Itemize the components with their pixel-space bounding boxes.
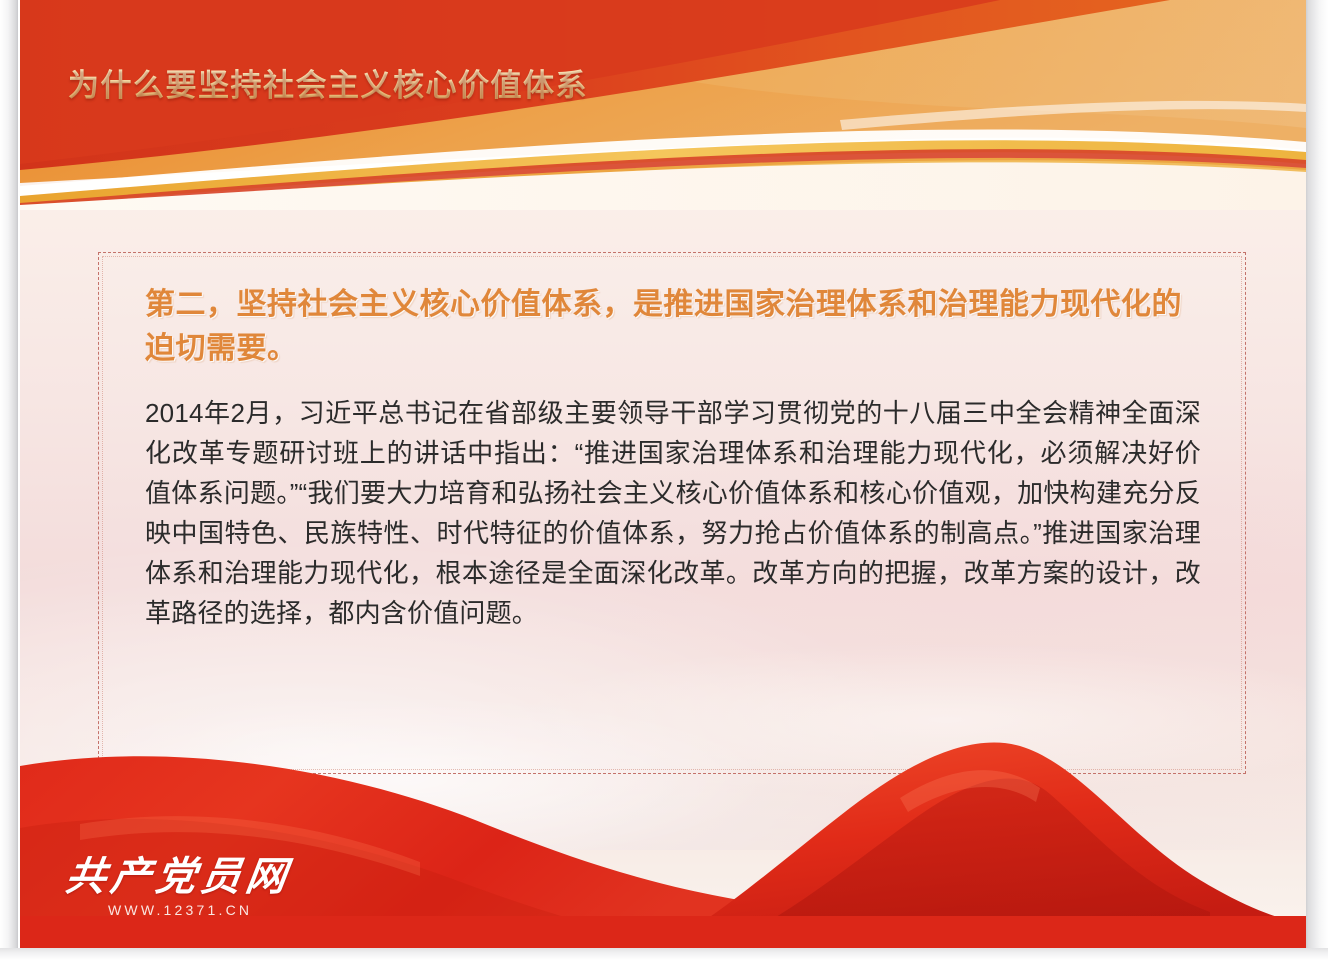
body-paragraph: 2014年2月，习近平总书记在省部级主要领导干部学习贯彻党的十八届三中全会精神全… — [145, 393, 1201, 633]
frame-edge-right — [1306, 0, 1328, 960]
banner-graphic — [20, 0, 1306, 210]
slide-viewport: 为什么要坚持社会主义核心价值体系 第二，坚持社会主义核心价值体系，是推进国家治理… — [0, 0, 1328, 960]
frame-edge-left — [0, 0, 18, 960]
frame-edge-bottom — [0, 948, 1328, 960]
footer-wave-graphic: 共产党员网 WWW.12371.CN — [20, 648, 1306, 948]
presentation-slide: 为什么要坚持社会主义核心价值体系 第二，坚持社会主义核心价值体系，是推进国家治理… — [20, 0, 1306, 948]
page-title: 为什么要坚持社会主义核心价值体系 — [68, 60, 588, 105]
section-heading: 第二，坚持社会主义核心价值体系，是推进国家治理体系和治理能力现代化的迫切需要。 — [145, 283, 1205, 371]
site-logo[interactable]: 共产党员网 WWW.12371.CN — [66, 855, 316, 918]
logo-url: WWW.12371.CN — [108, 902, 316, 918]
header-banner: 为什么要坚持社会主义核心价值体系 — [20, 0, 1306, 210]
logo-wordmark: 共产党员网 — [63, 855, 319, 899]
